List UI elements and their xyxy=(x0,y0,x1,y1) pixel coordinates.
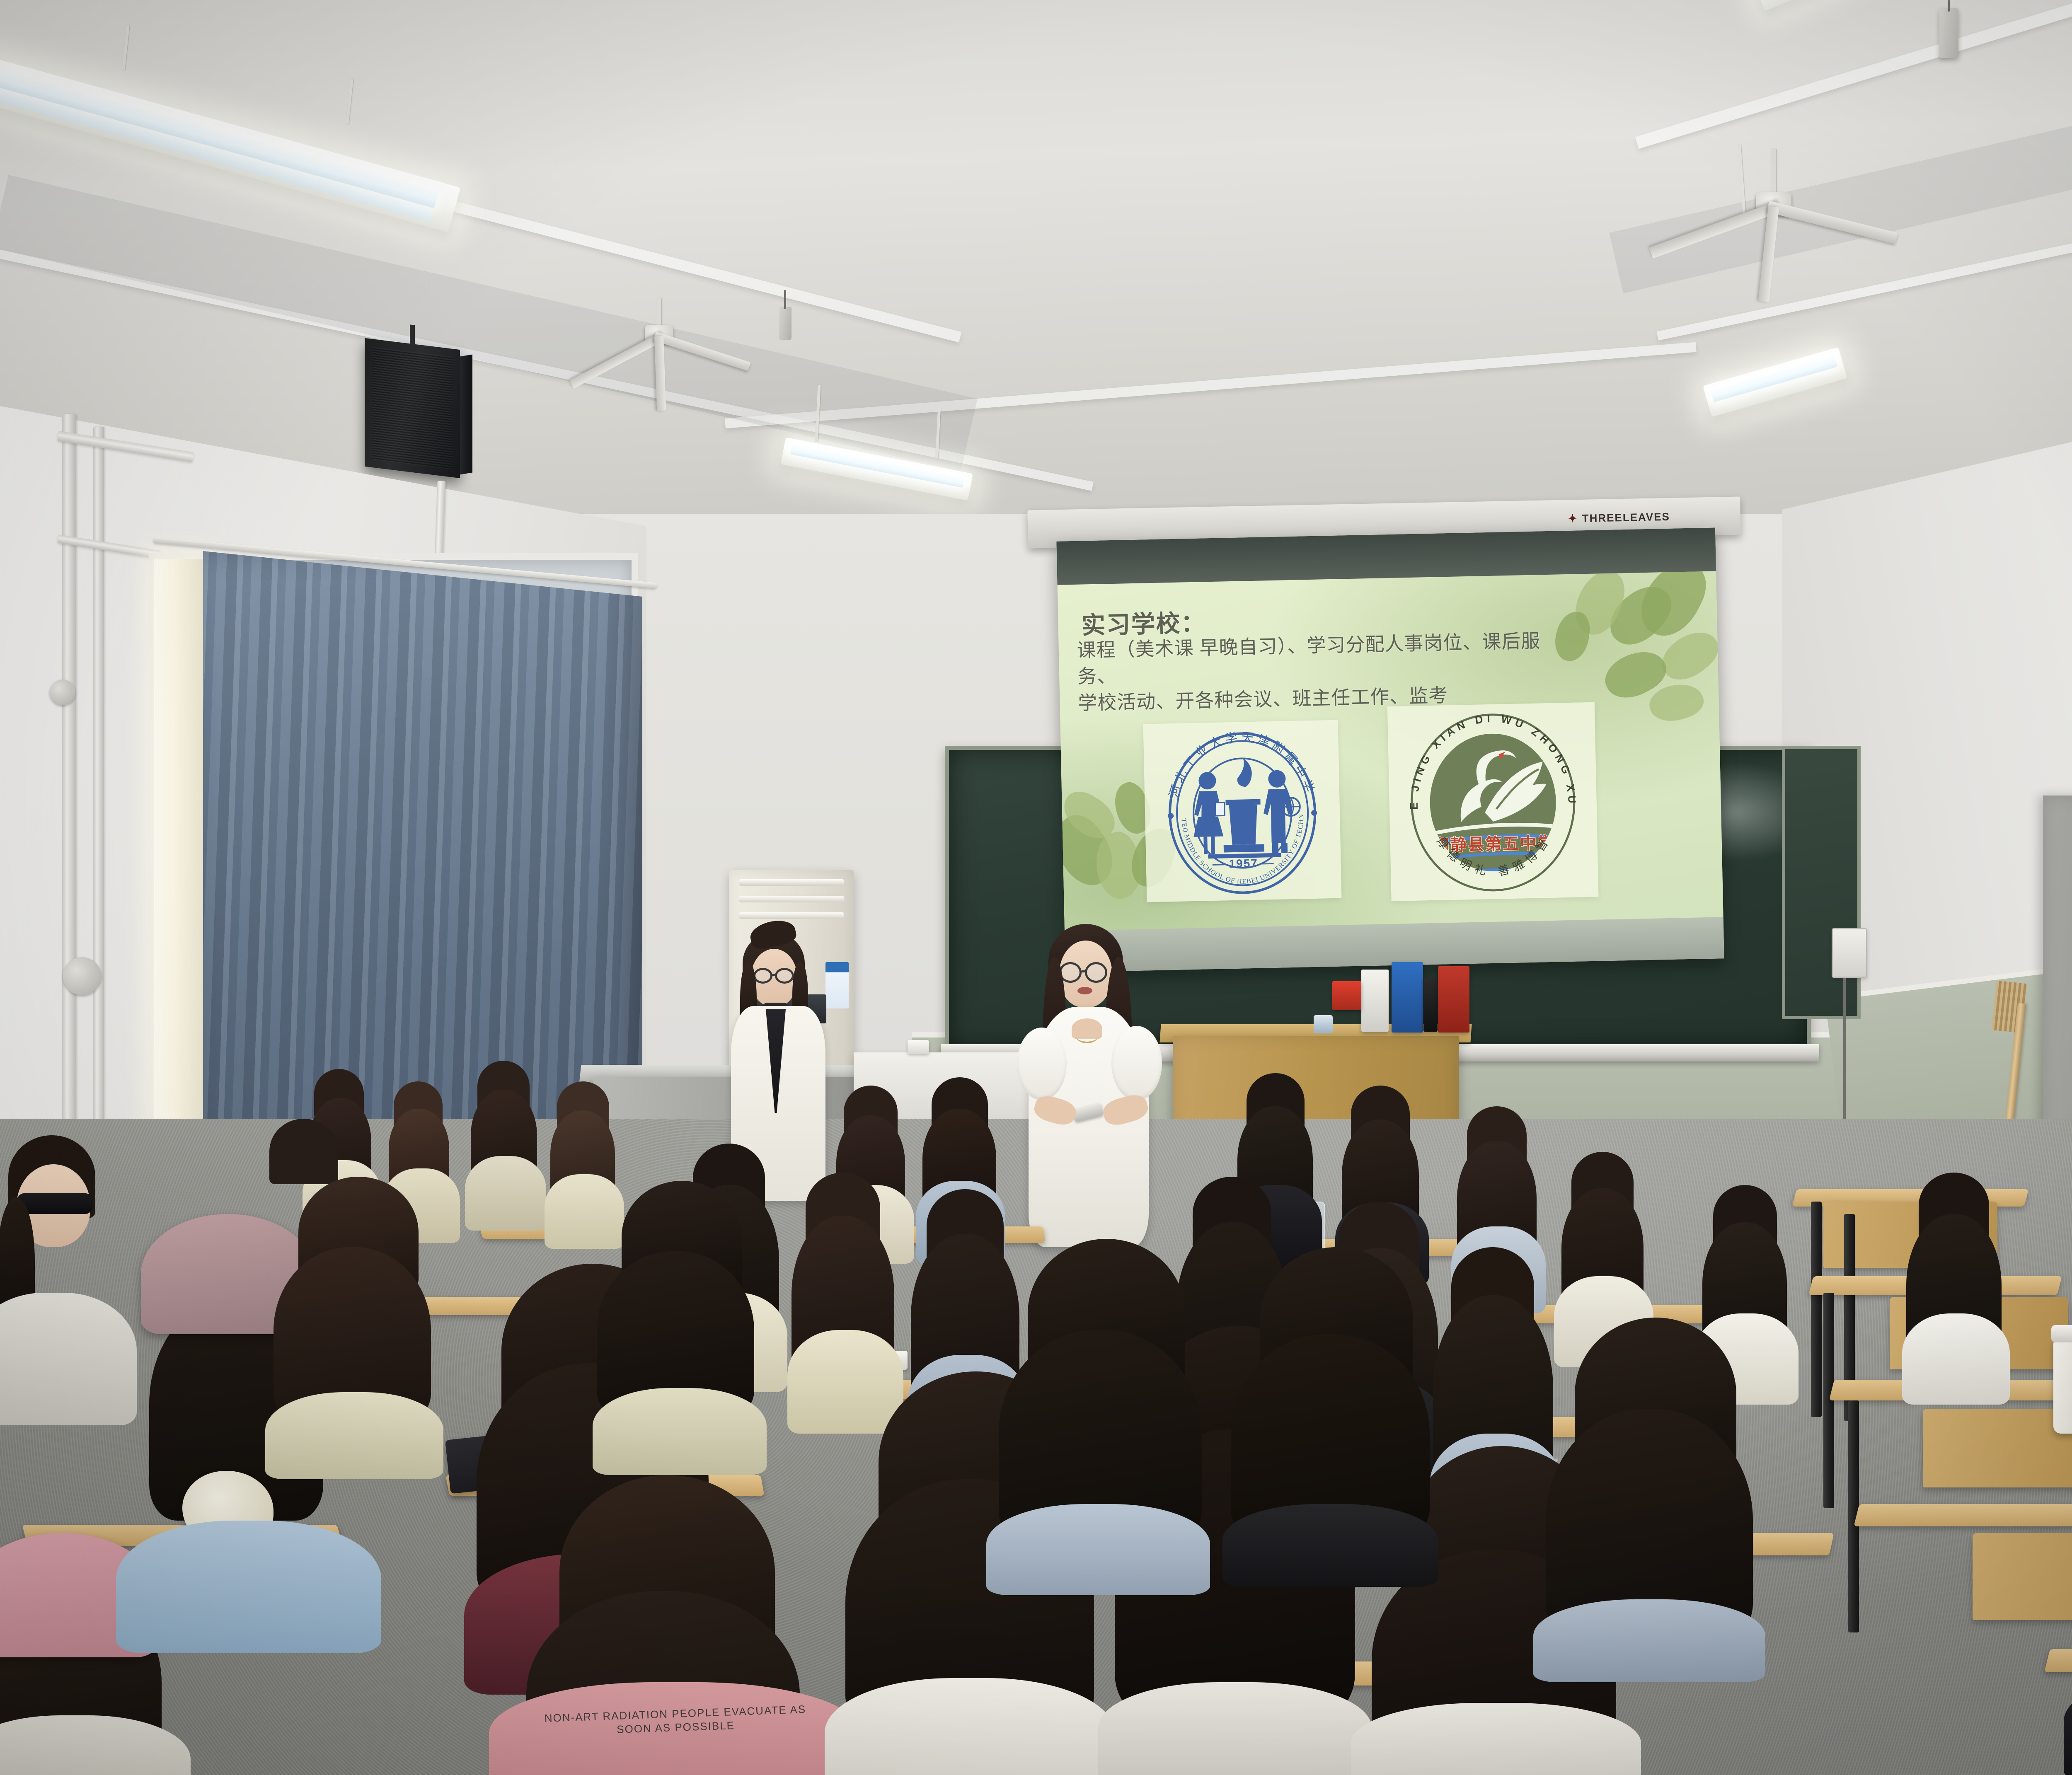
projection-screen: 实习学校： 课程（美术课 早晚自习）、学习分配人事岗位、课后服务、 学校活动、开… xyxy=(1056,527,1724,972)
window-daylight xyxy=(154,559,204,1131)
chalk-box-white xyxy=(1361,970,1389,1032)
eyeglasses xyxy=(1085,962,1107,983)
eraser xyxy=(1314,1015,1333,1033)
ceiling-cable xyxy=(1948,0,1950,12)
window-curtain[interactable] xyxy=(203,551,642,1160)
screen-brand-label: ✦THREELEAVES xyxy=(1568,510,1670,525)
classroom-photo: ✦THREELEAVES 实习学校： 课程（美术课 早晚自习）、学习分配人事岗位… xyxy=(0,0,2072,1775)
student-sunglasses xyxy=(0,1135,124,1417)
fan-blade xyxy=(569,332,665,389)
junction-box xyxy=(779,307,792,340)
fan-rod xyxy=(1771,149,1776,195)
speaker-side xyxy=(460,355,472,475)
ac-vent-slat xyxy=(739,879,844,886)
eyeglasses-bridge xyxy=(1082,970,1087,972)
fan-blade xyxy=(654,336,666,411)
student-front-center xyxy=(986,1239,1210,1579)
chalk-box-red xyxy=(1332,981,1361,1010)
pipe-valve xyxy=(50,680,75,705)
desk-leg xyxy=(1823,1293,1834,1508)
fan-rod xyxy=(656,298,661,327)
wall-switch-plate[interactable] xyxy=(1832,928,1867,978)
eyeglasses xyxy=(775,968,794,984)
speaker-grille xyxy=(372,347,452,470)
chalk-box-red xyxy=(1438,966,1469,1033)
student-front-farright xyxy=(2064,1384,2072,1775)
sunglasses xyxy=(17,1193,92,1214)
pipe-valve xyxy=(63,957,101,995)
fan-blade xyxy=(1649,201,1782,259)
seal-hejing-no5-middle-school: 和静县第五中学 HE JING XIAN DI WU ZHONG XUE 厚德明… xyxy=(1396,709,1590,895)
student-front-right xyxy=(1533,1318,1765,1674)
svg-text:— 1957 —: — 1957 — xyxy=(1212,856,1274,871)
eyeglasses-bridge xyxy=(772,974,777,976)
presenter-main xyxy=(1007,924,1169,1247)
mouth xyxy=(1077,987,1092,994)
speaker-bracket xyxy=(410,324,415,345)
ceiling-beam xyxy=(1635,0,2072,149)
slide-line: 课程（美术课 早晚自习）、学习分配人事岗位、课后服务、 xyxy=(1077,627,1566,690)
slide-body: 课程（美术课 早晚自习）、学习分配人事岗位、课后服务、 学校活动、开各种会议、班… xyxy=(1077,627,1567,716)
green-chalkboard xyxy=(1782,746,1861,1019)
dress-puff-sleeve xyxy=(1111,1026,1162,1100)
fan-blade xyxy=(653,332,750,371)
presentation-slide: 实习学校： 课程（美术课 早晚自习）、学习分配人事岗位、课后服务、 学校活动、开… xyxy=(1057,571,1723,933)
student-front-left xyxy=(593,1181,767,1471)
slide-logo-left: 河北工业大学天津附属中学 AFFILIATED MIDDLE SCHOOL OF… xyxy=(1143,720,1342,902)
three-leaf-icon: ✦ xyxy=(1568,512,1578,525)
seal-hebei-affiliated-middle-school: 河北工业大学天津附属中学 AFFILIATED MIDDLE SCHOOL OF… xyxy=(1152,726,1333,896)
ceiling-fan xyxy=(1629,149,1919,286)
ac-vent-slat xyxy=(739,912,844,919)
desk-seat-back xyxy=(1973,1533,2072,1620)
chalk-box-black xyxy=(1423,978,1438,1032)
student-back xyxy=(1558,1152,1649,1326)
student-back xyxy=(468,1061,543,1202)
ceiling-fan xyxy=(551,298,767,406)
student-front-left xyxy=(265,1177,443,1475)
student-right xyxy=(1902,1173,2010,1388)
chalk-box-blue xyxy=(1392,962,1423,1033)
slide-logo-right: 和静县第五中学 HE JING XIAN DI WU ZHONG XUE 厚德明… xyxy=(1387,702,1599,901)
small-cup xyxy=(908,1040,929,1054)
dress-puff-sleeve xyxy=(1017,1028,1067,1100)
bottle-cap[interactable] xyxy=(2051,1325,2072,1342)
eyeglasses xyxy=(753,968,772,984)
desk-leg xyxy=(1811,1202,1822,1417)
ceiling-cable xyxy=(784,290,786,309)
student-front-pinktee: NON-ART RADIATION PEOPLE EVACUATE AS SOO… xyxy=(489,1475,862,1775)
fan-blade xyxy=(1767,201,1898,244)
desk-seat-back xyxy=(1923,1409,2072,1487)
student-front-right xyxy=(1222,1247,1438,1570)
junction-box xyxy=(1939,8,1958,58)
desk-top xyxy=(1854,1504,2072,1526)
svg-text:河北工业大学天津附属中学: 河北工业大学天津附属中学 xyxy=(1165,728,1317,800)
ac-vent-slat xyxy=(739,896,844,902)
wall-speaker xyxy=(365,338,460,478)
necklace xyxy=(1076,1028,1098,1043)
